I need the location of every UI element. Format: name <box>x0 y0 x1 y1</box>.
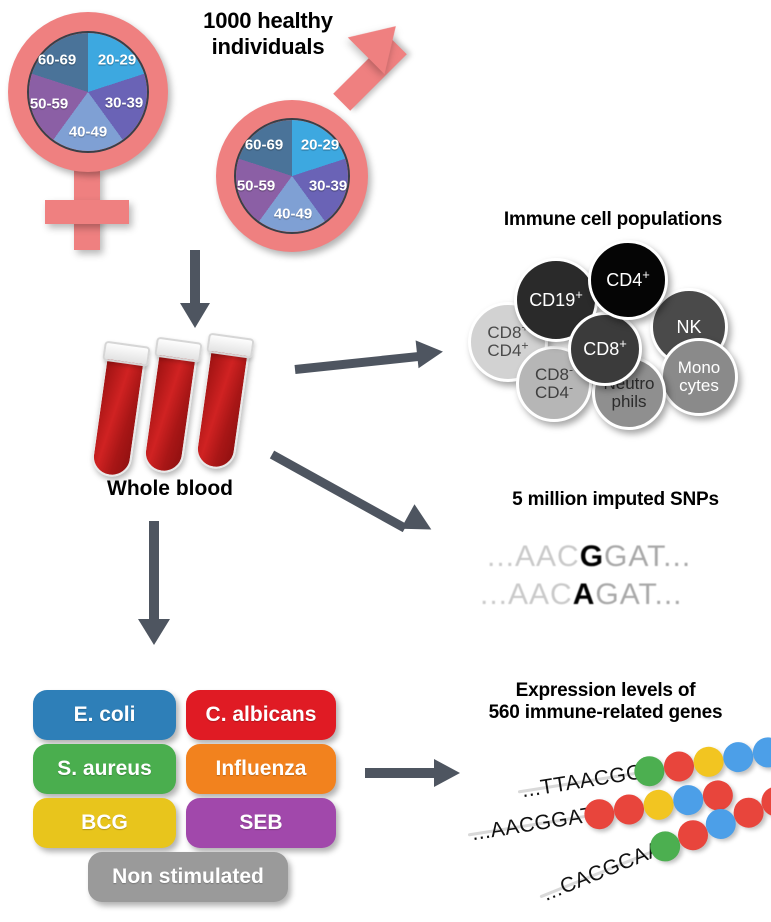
stimulation-s-aureus[interactable]: S. aureus <box>33 744 176 794</box>
immune-cell-cd4: CD4+ <box>588 240 668 320</box>
snp-variant-1: G <box>580 540 604 573</box>
stimulation-e-coli[interactable]: E. coli <box>33 690 176 740</box>
stimulation-c-albicans[interactable]: C. albicans <box>186 690 336 740</box>
expression-strand-2-text: ...AACGGAT <box>470 803 596 846</box>
snp-title: 5 million imputed SNPs <box>460 489 771 511</box>
male-slice-label-60-69: 60-69 <box>245 137 283 154</box>
expression-title: Expression levels of 560 immune-related … <box>440 680 771 725</box>
immune-cell-cd19-label: CD19+ <box>529 291 583 310</box>
expression-bead <box>691 745 725 779</box>
snp-suffix-2: GAT... <box>595 578 682 611</box>
male-slice-label-50-59: 50-59 <box>237 178 275 195</box>
snp-variant-2: A <box>573 578 596 611</box>
expression-bead <box>612 792 646 826</box>
snp-prefix-1: ...AAC <box>487 540 580 573</box>
immune-cell-monocytes: Monocytes <box>660 338 738 416</box>
stimulation-non-stimulated[interactable]: Non stimulated <box>88 852 288 902</box>
female-slice-label-50-59: 50-59 <box>30 96 68 113</box>
expression-strand-3-text: ...CACGCAA <box>539 837 665 907</box>
page-title: 1000 healthy individuals <box>168 8 368 60</box>
immune-cell-nk-label: NK <box>676 318 701 337</box>
tube-body <box>141 351 197 475</box>
stimulation-bcg[interactable]: BCG <box>33 798 176 848</box>
immune-cell-cd8-label: CD8+ <box>583 340 627 359</box>
expression-bead <box>751 735 771 769</box>
male-slice-label-20-29: 20-29 <box>301 137 339 154</box>
immune-cell-cd8neg-cd4neg-label: CD8-CD4- <box>535 366 573 401</box>
female-slice-label-20-29: 20-29 <box>98 52 136 69</box>
expression-bead <box>662 749 696 783</box>
male-slice-label-40-49: 40-49 <box>274 206 312 223</box>
snp-suffix-1: GAT... <box>604 540 691 573</box>
male-slice-label-30-39: 30-39 <box>309 178 347 195</box>
tube-body <box>89 355 145 479</box>
expression-bead <box>721 740 755 774</box>
whole-blood-label: Whole blood <box>60 477 280 501</box>
expression-title-line2: 560 immune-related genes <box>440 702 771 724</box>
immune-cell-monocytes-label: Monocytes <box>678 359 721 394</box>
page-title-line2: individuals <box>168 34 368 60</box>
immune-cell-cd4-label: CD4+ <box>606 271 650 290</box>
snp-sequence-row-2: ...AACAGAT... <box>480 578 683 612</box>
female-slice-label-60-69: 60-69 <box>38 52 76 69</box>
expression-title-line1: Expression levels of <box>440 680 771 702</box>
snp-prefix-2: ...AAC <box>480 578 573 611</box>
tube-body <box>193 347 249 471</box>
snp-sequence-row-1: ...AACGGAT... <box>487 540 691 574</box>
immune-cells-title: Immune cell populations <box>455 209 771 231</box>
stimulation-seb[interactable]: SEB <box>186 798 336 848</box>
diagram-canvas: 1000 healthy individuals 20-29 30-39 40-… <box>0 0 771 922</box>
page-title-line1: 1000 healthy <box>168 8 368 34</box>
stimulation-influenza[interactable]: Influenza <box>186 744 336 794</box>
female-slice-label-30-39: 30-39 <box>105 95 143 112</box>
expression-bead <box>671 783 705 817</box>
female-slice-label-40-49: 40-49 <box>69 124 107 141</box>
expression-bead <box>641 788 675 822</box>
immune-cell-cd8pos-cd4pos-label: CD8+CD4+ <box>487 324 528 359</box>
female-stem-cross <box>45 200 129 224</box>
immune-cell-cd8: CD8+ <box>568 312 642 386</box>
